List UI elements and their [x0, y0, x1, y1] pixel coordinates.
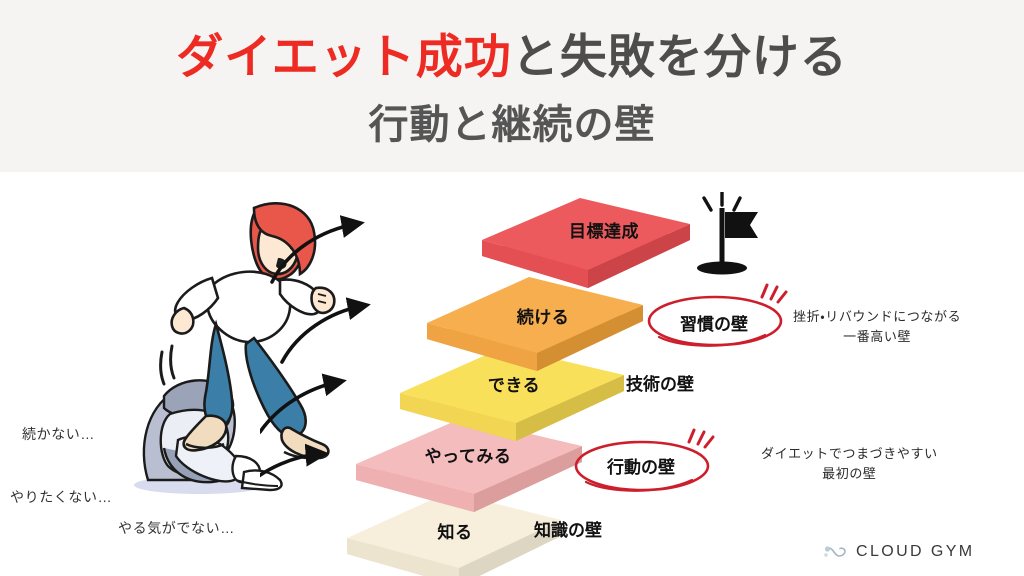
wall-label-habit: 習慣の壁 — [649, 295, 779, 349]
wall-description-action-line2: 最初の壁 — [761, 464, 938, 484]
wall-label-action: 行動の壁 — [576, 438, 706, 492]
wall-description-habit-line1: 挫折・リバウンドにつながる — [793, 307, 961, 327]
wall-description-habit-line2: 一番高い壁 — [793, 327, 961, 347]
wall-description-habit: 挫折・リバウンドにつながる 一番高い壁 — [793, 307, 961, 347]
negative-thought-2: やりたくない… — [10, 487, 112, 507]
negative-thought-1: 続かない… — [22, 424, 95, 444]
wall-label-technique: 技術の壁 — [626, 370, 694, 395]
step-slab-5[interactable]: 目標達成 — [474, 198, 694, 290]
step-stack: 知る やってみる できる — [0, 0, 1024, 576]
wall-label-habit-text: 習慣の壁 — [649, 295, 779, 349]
brand-logo-text: CLOUD GYM — [856, 543, 975, 561]
brand-logo: CLOUD GYM — [822, 543, 975, 561]
infographic-page: ダイエット成功と失敗を分ける 行動と継続の壁 — [0, 0, 1024, 576]
wall-label-knowledge: 知識の壁 — [534, 516, 602, 541]
wall-label-action-text: 行動の壁 — [576, 438, 706, 492]
infinity-mark-icon — [822, 544, 848, 560]
wall-description-action-line1: ダイエットでつまづきやすい — [761, 444, 938, 464]
wall-description-action: ダイエットでつまづきやすい 最初の壁 — [761, 444, 938, 484]
negative-thought-3: やる気がでない… — [118, 518, 235, 538]
